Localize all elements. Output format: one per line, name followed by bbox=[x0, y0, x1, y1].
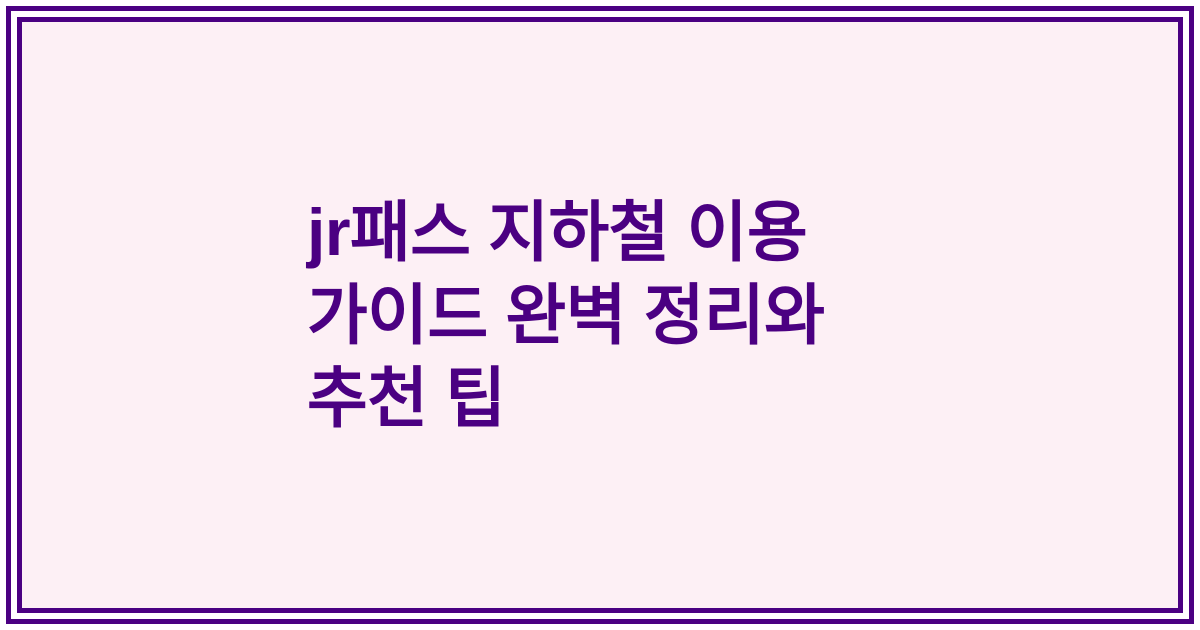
page-title: jr패스 지하철 이용 가이드 완벽 정리와 추천 팁 bbox=[307, 191, 907, 440]
title-block: jr패스 지하철 이용 가이드 완벽 정리와 추천 팁 bbox=[22, 191, 1178, 440]
inner-border-frame: jr패스 지하철 이용 가이드 완벽 정리와 추천 팁 bbox=[17, 17, 1183, 613]
thumbnail-card: jr패스 지하철 이용 가이드 완벽 정리와 추천 팁 bbox=[0, 0, 1200, 630]
outer-border-frame: jr패스 지하철 이용 가이드 완벽 정리와 추천 팁 bbox=[6, 6, 1194, 624]
content-canvas: jr패스 지하철 이용 가이드 완벽 정리와 추천 팁 bbox=[22, 22, 1178, 608]
